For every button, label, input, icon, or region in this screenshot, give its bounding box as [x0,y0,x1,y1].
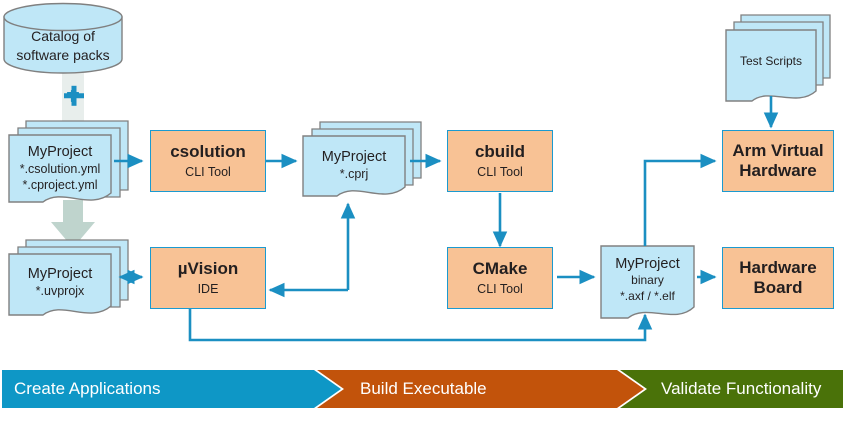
arm-virtual-hardware-box[interactable]: Arm Virtual Hardware [722,130,834,192]
arrow-uvision-to-binary [190,308,645,340]
avh-line-1: Arm Virtual [732,141,823,161]
uvision-tool-box[interactable]: µVision IDE [150,247,266,309]
stage-label-validate[interactable]: Validate Functionality [661,379,821,399]
diagram-canvas: Catalog of software packs MyProject *.cs… [0,0,845,436]
board-line-2: Board [753,278,802,298]
cmake-subtitle: CLI Tool [477,282,523,296]
csolution-name: csolution [170,143,246,162]
cmake-name: CMake [473,260,528,279]
uvision-name: µVision [178,260,239,279]
project-binary-doc-shape [601,246,694,318]
avh-line-2: Hardware [739,161,816,181]
stage-label-build[interactable]: Build Executable [360,379,487,399]
diagram-vector-layer [0,0,845,436]
cbuild-name: cbuild [475,143,525,162]
cbuild-tool-box[interactable]: cbuild CLI Tool [447,130,553,192]
catalog-cylinder[interactable]: Catalog of software packs [4,27,122,65]
catalog-line-1: Catalog of [4,27,122,46]
catalog-line-2: software packs [4,46,122,65]
arrow-binary-to-avh [645,161,715,246]
project-cprj-stack-shape [303,122,421,196]
uvision-subtitle: IDE [198,282,219,296]
cmake-tool-box[interactable]: CMake CLI Tool [447,247,553,309]
csolution-tool-box[interactable]: csolution CLI Tool [150,130,266,192]
csolution-subtitle: CLI Tool [185,165,231,179]
test-scripts-stack-shape [726,15,830,101]
cbuild-subtitle: CLI Tool [477,165,523,179]
board-line-1: Hardware [739,258,816,278]
hardware-board-box[interactable]: Hardware Board [722,247,834,309]
project-yml-stack-shape [9,121,128,202]
stage-label-create[interactable]: Create Applications [14,379,160,399]
project-uvprojx-stack-shape [9,240,128,315]
